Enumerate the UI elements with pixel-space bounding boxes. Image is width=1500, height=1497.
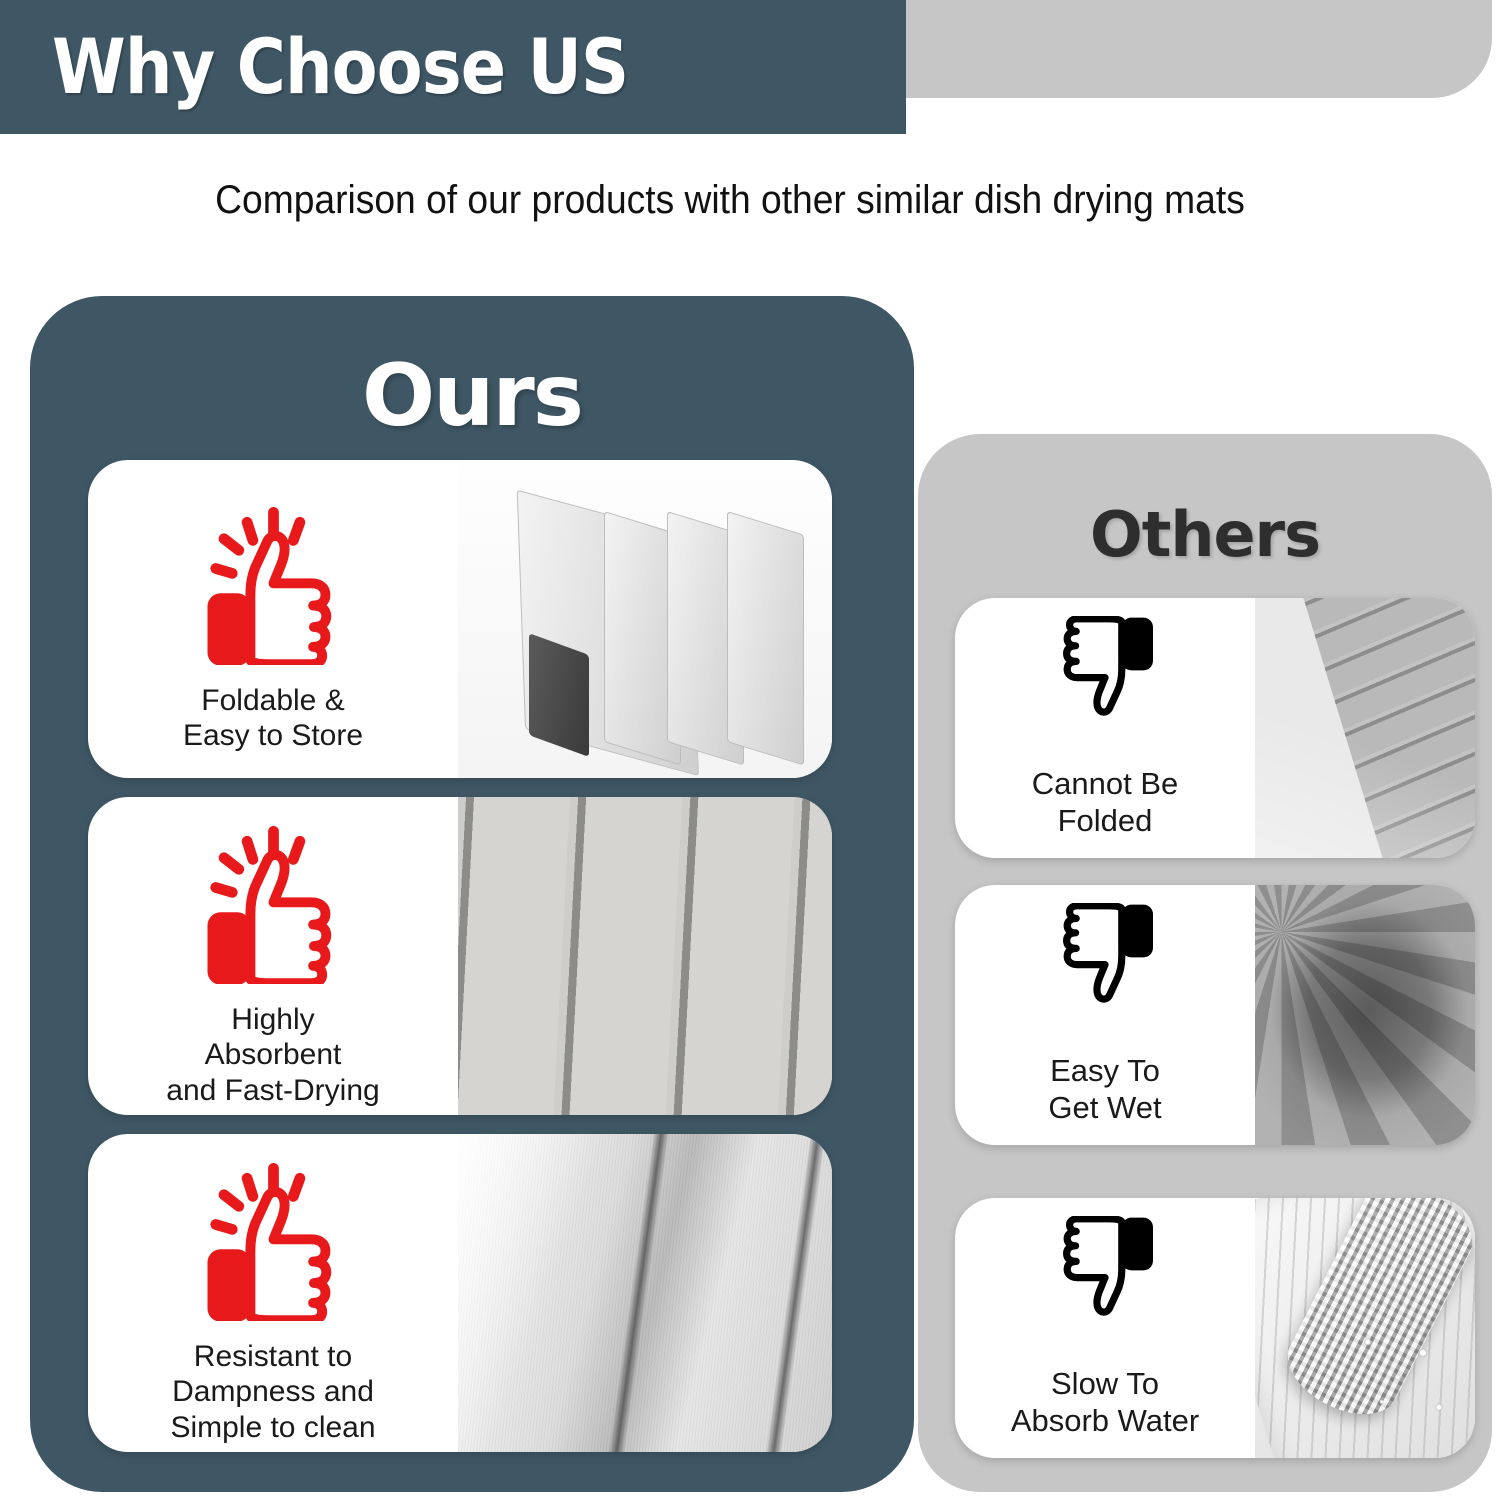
header-gray-accent-bar <box>880 0 1492 98</box>
thumbs-down-icon <box>1045 616 1165 744</box>
thumbs-down-icon <box>1045 1216 1165 1344</box>
card-caption: Cannot Be Folded <box>1032 766 1179 839</box>
thumbs-up-icon <box>191 495 356 665</box>
card-content: Slow To Absorb Water <box>955 1198 1255 1458</box>
card-content: Cannot Be Folded <box>955 598 1255 858</box>
page-title: Why Choose US <box>52 29 628 105</box>
others-feature-card: Cannot Be Folded <box>955 598 1475 858</box>
folded-mat-photo <box>458 460 832 778</box>
ribbed-mat-closeup-photo <box>458 797 832 1115</box>
others-feature-card: Slow To Absorb Water <box>955 1198 1475 1458</box>
metallic-mat-photo <box>458 1134 832 1452</box>
thumbs-up-icon <box>191 1151 356 1321</box>
thumbs-down-icon <box>1045 903 1165 1031</box>
header-bar: Why Choose US <box>0 0 906 134</box>
others-panel-title: Others <box>918 498 1492 571</box>
card-caption: Resistant to Dampness and Simple to clea… <box>170 1339 375 1445</box>
card-caption: Highly Absorbent and Fast-Drying <box>166 1002 379 1108</box>
ours-feature-card: Resistant to Dampness and Simple to clea… <box>88 1134 832 1452</box>
ours-feature-card: Foldable & Easy to Store <box>88 460 832 778</box>
card-caption: Easy To Get Wet <box>1048 1053 1161 1126</box>
others-feature-card: Easy To Get Wet <box>955 885 1475 1145</box>
card-content: Foldable & Easy to Store <box>88 460 458 778</box>
card-content: Highly Absorbent and Fast-Drying <box>88 797 458 1115</box>
thumbs-up-icon <box>191 814 356 984</box>
card-caption: Foldable & Easy to Store <box>183 683 363 754</box>
ours-panel-title: Ours <box>30 346 914 446</box>
page-subtitle: Comparison of our products with other si… <box>51 178 1409 223</box>
card-content: Easy To Get Wet <box>955 885 1255 1145</box>
card-content: Resistant to Dampness and Simple to clea… <box>88 1134 458 1452</box>
wet-microfiber-photo <box>1255 885 1475 1145</box>
ours-feature-card: Highly Absorbent and Fast-Drying <box>88 797 832 1115</box>
corn-on-wet-mat-photo <box>1255 1198 1475 1458</box>
grooved-flat-mat-photo <box>1255 598 1475 858</box>
card-caption: Slow To Absorb Water <box>1011 1366 1199 1439</box>
